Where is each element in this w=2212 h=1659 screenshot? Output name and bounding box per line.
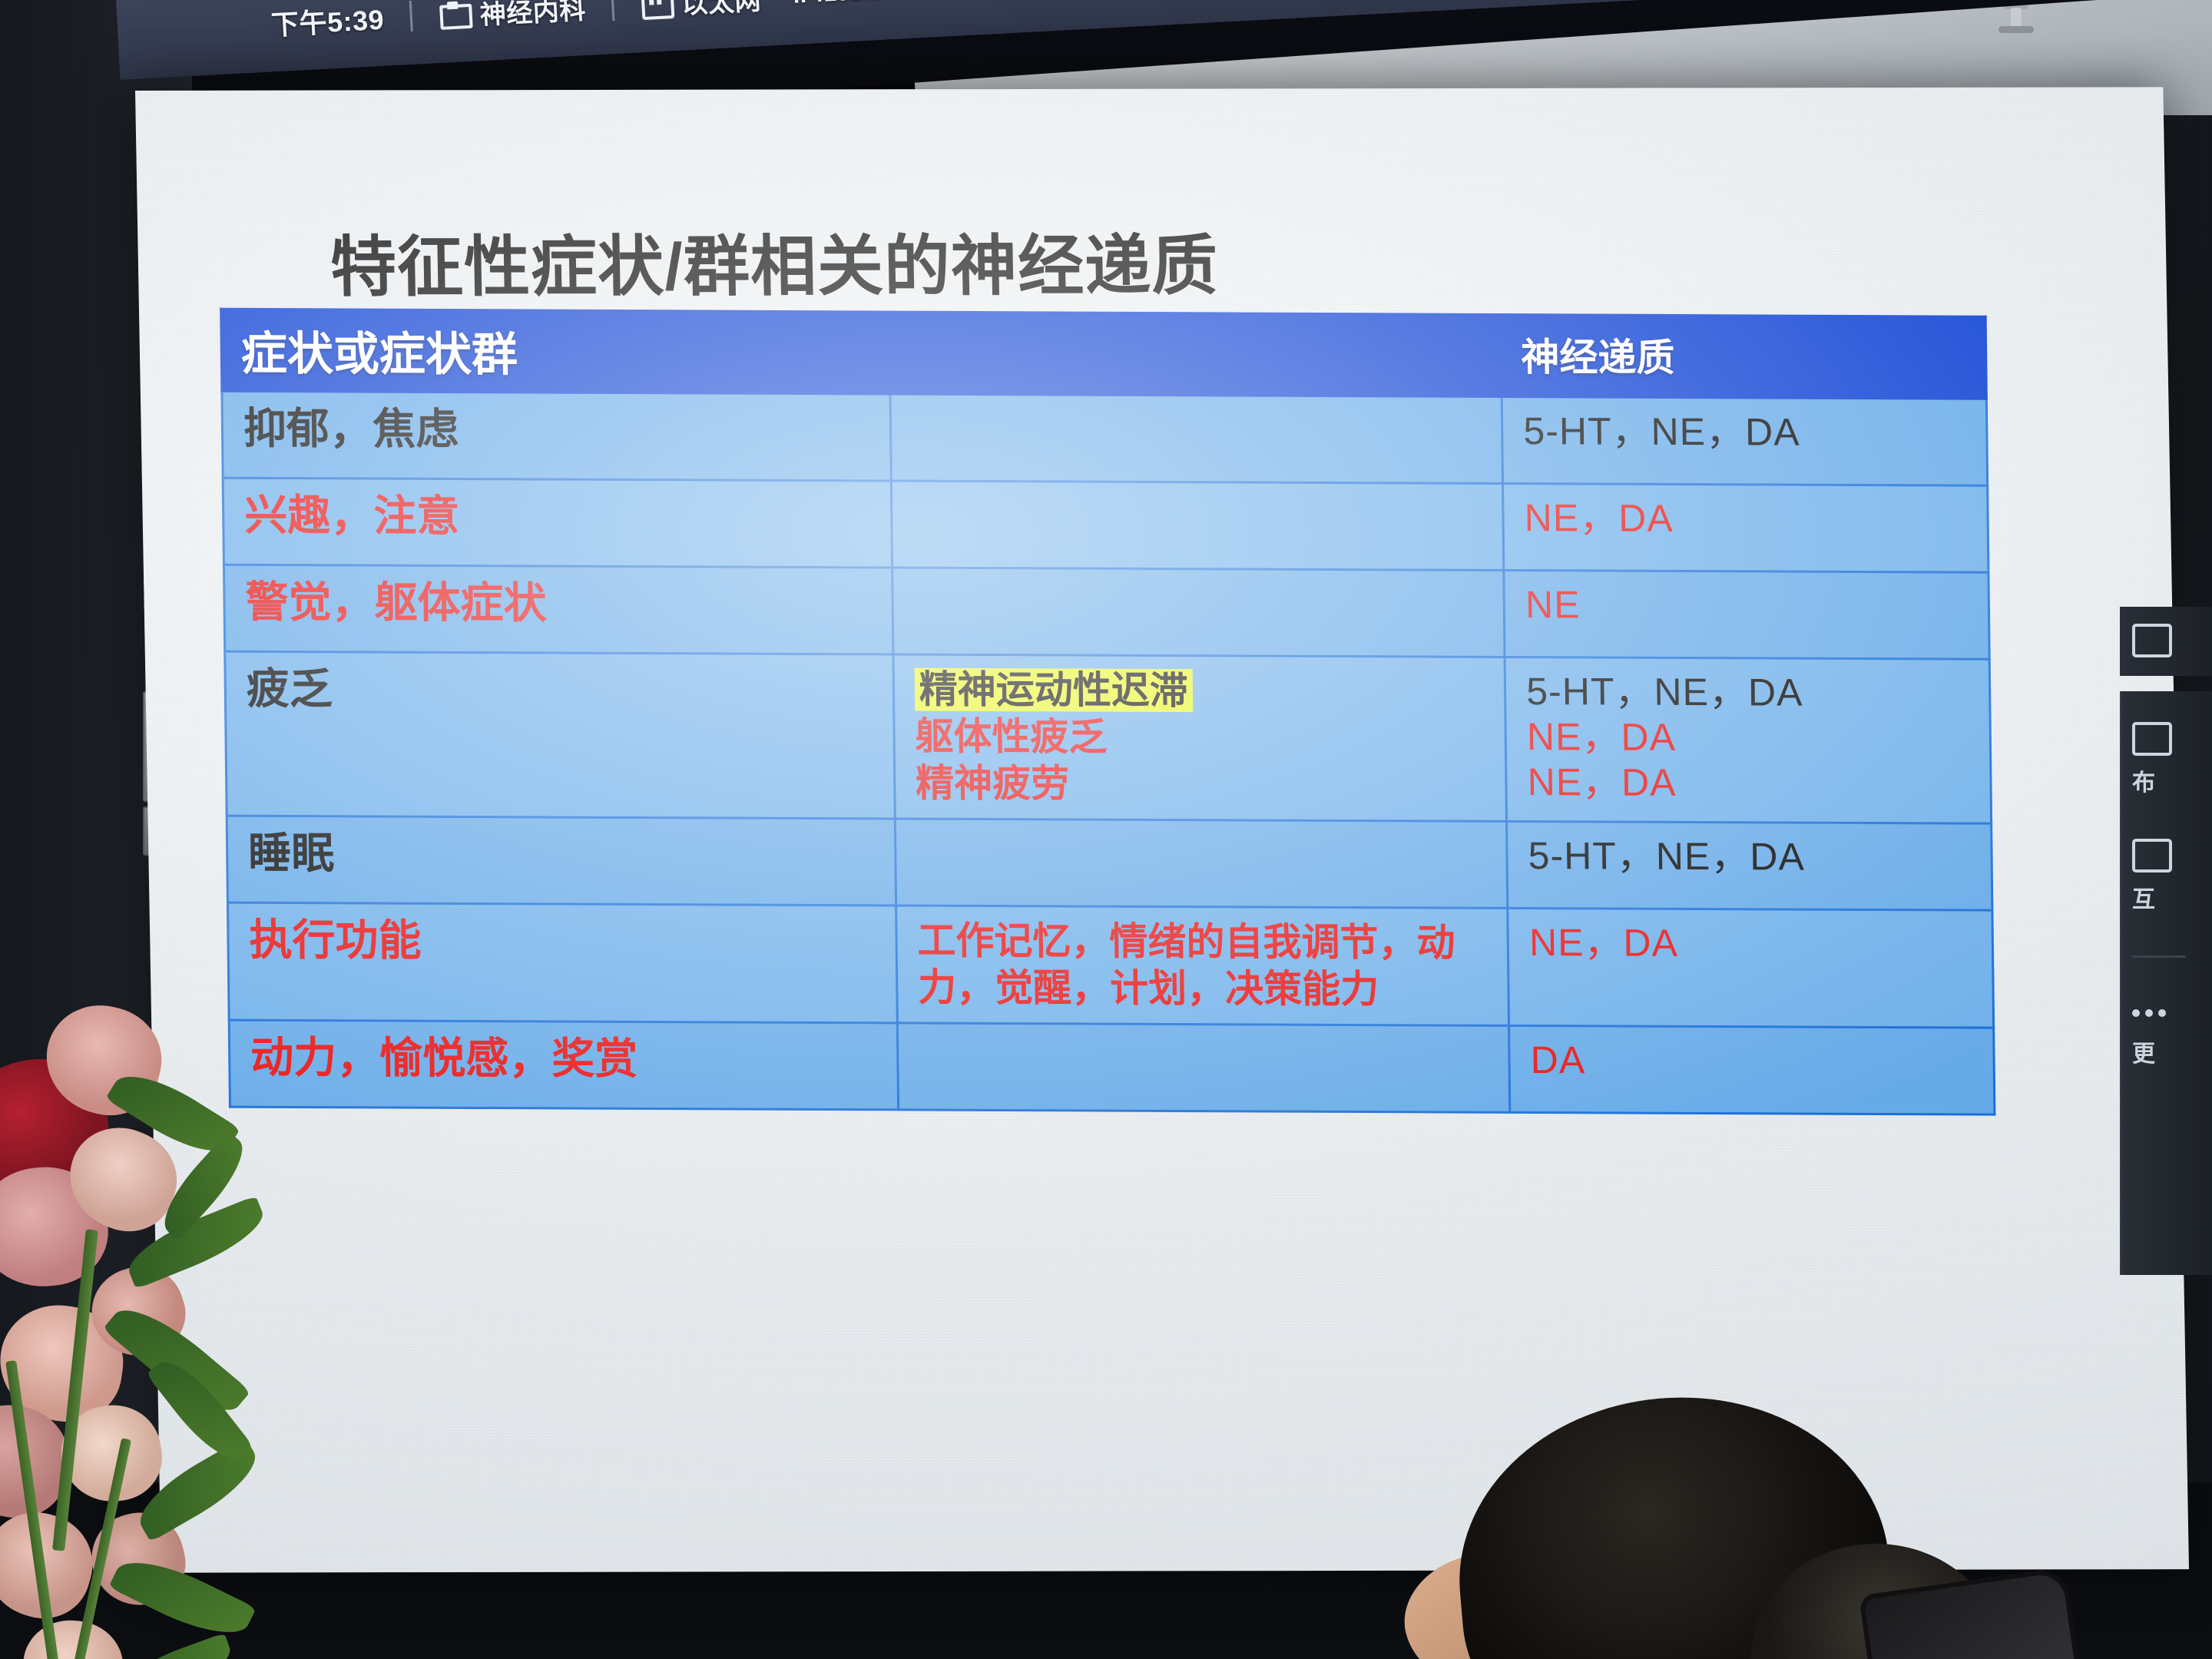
status-network: 以太网 [639,0,762,23]
layout-icon [2132,722,2172,756]
status-time: 下午5:39 [270,0,386,43]
screen-share-icon [2132,624,2172,657]
ethernet-icon [640,0,671,16]
status-divider [611,0,614,21]
flower-arrangement [0,975,323,1659]
control-item-more[interactable]: 更 [2132,999,2166,1068]
status-ip: IP:192.168.1.100 [793,0,977,9]
room-scene: 下午5:39 神经内科 以太网 IP:192.168.1.100 特征性症状/群… [0,0,2212,1659]
interaction-icon [2132,839,2172,873]
status-divider [409,1,413,31]
control-strip[interactable]: 布互更 [2120,691,2212,1275]
control-strip-top[interactable] [2120,607,2212,676]
flower-leaf [116,1633,237,1659]
cast-icon [438,1,469,27]
more-icon [2132,999,2166,1027]
screen-glare [135,87,2189,1572]
control-divider [2132,955,2186,958]
control-item-label: 互 [2132,880,2155,914]
status-source-label: 神经内科 [478,0,586,31]
control-item-label: 布 [2132,763,2155,797]
control-item-interaction[interactable]: 互 [2132,839,2172,914]
status-source: 神经内科 [438,0,587,34]
projection-screen: 特征性症状/群相关的神经递质 症状或症状群 神经递质 抑郁，焦虑 5-HT，NE… [135,87,2189,1572]
control-item-label: 更 [2132,1035,2155,1068]
control-item-layout[interactable]: 布 [2132,722,2172,797]
flower-bloom [18,1616,127,1659]
status-network-label: 以太网 [680,0,762,21]
